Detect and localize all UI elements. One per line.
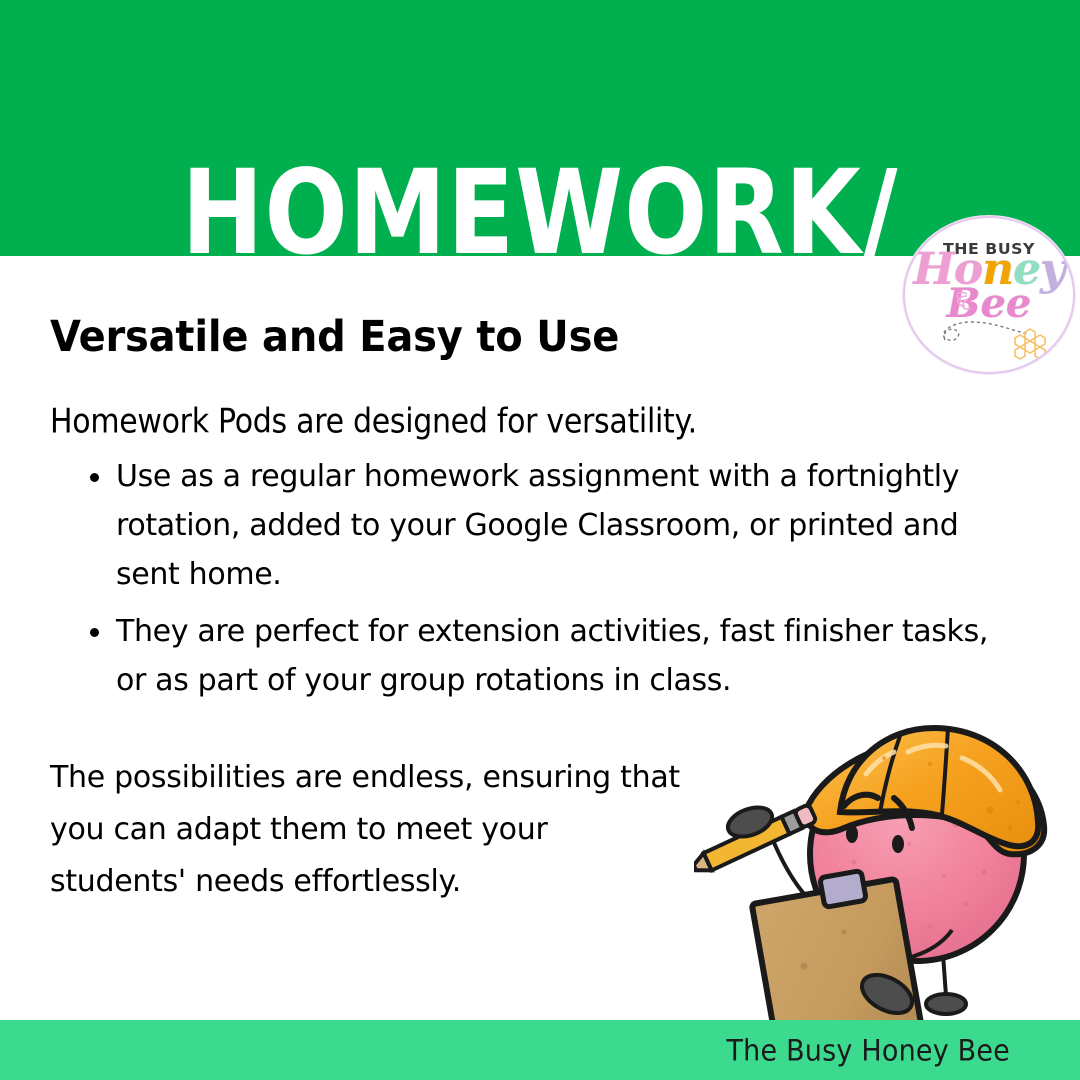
feature-bullet-list: Use as a regular homework assignment wit… <box>82 452 1012 713</box>
slide-canvas: HOMEWORK/ LEARNING POD THE BUSY Honey Be… <box>0 0 1080 1080</box>
bullet-dot-icon <box>90 628 99 637</box>
honeycomb-icon <box>1015 329 1045 359</box>
footer-brand-text: The Busy Honey Bee <box>726 1033 1010 1070</box>
brand-logo-inner: THE BUSY Honey Bee <box>905 218 1073 372</box>
logo-decoration-svg <box>905 218 1073 372</box>
hard-hat-character-illustration <box>694 694 1074 1026</box>
bee-wings-icon <box>957 292 971 309</box>
brand-logo: THE BUSY Honey Bee <box>903 216 1075 374</box>
closing-paragraph: The possibilities are endless, ensuring … <box>50 752 690 908</box>
character-svg <box>694 694 1074 1026</box>
list-item-text: Use as a regular homework assignment wit… <box>116 459 959 592</box>
clipboard-clip <box>820 871 867 908</box>
intro-paragraph: Homework Pods are designed for versatili… <box>50 400 697 445</box>
list-item: Use as a regular homework assignment wit… <box>82 452 1012 599</box>
list-item-text: They are perfect for extension activitie… <box>116 614 988 698</box>
section-heading: Versatile and Easy to Use <box>50 312 619 363</box>
footer-band: The Busy Honey Bee <box>0 1020 1080 1080</box>
list-item: They are perfect for extension activitie… <box>82 607 1012 705</box>
bullet-dot-icon <box>90 473 99 482</box>
